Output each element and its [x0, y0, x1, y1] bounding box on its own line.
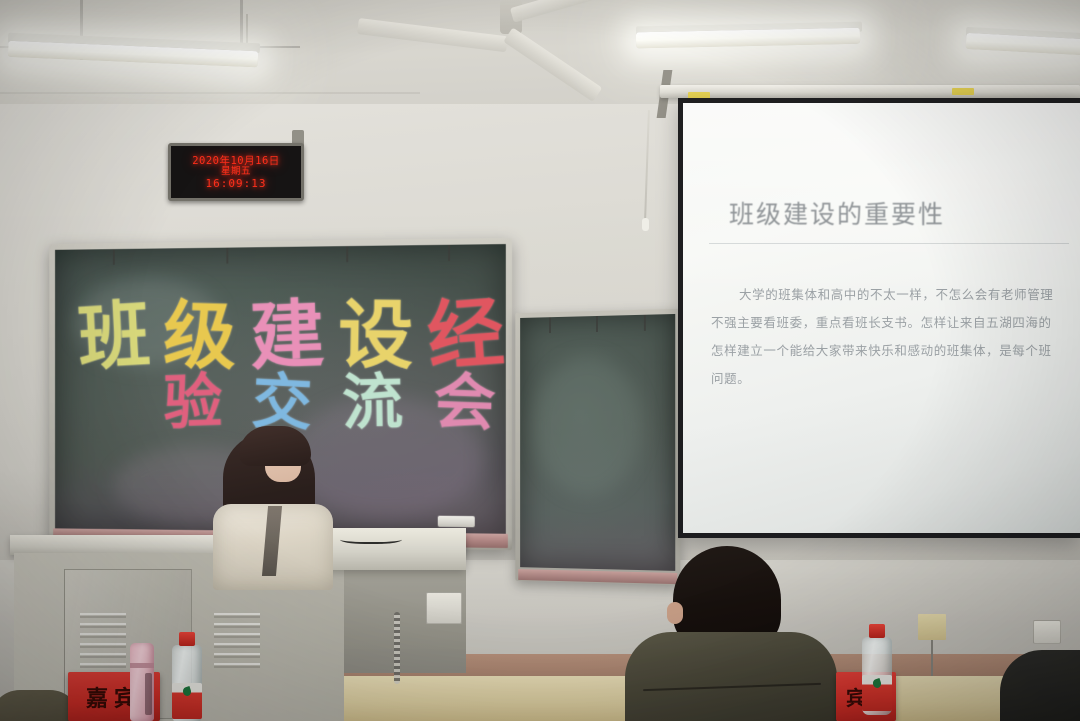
board-hook — [596, 316, 598, 332]
sign-post-head — [918, 614, 946, 640]
clock-date: 2020年10月16日 — [192, 156, 280, 167]
attendee-ear — [667, 602, 683, 624]
cabinet-vent — [214, 663, 260, 665]
presenter — [213, 418, 333, 568]
slide-body-line: 不强主要看班委，重点看班长支书。怎样让来自五湖四海的 — [711, 309, 1080, 337]
water-bottle — [172, 645, 202, 721]
rail-sticker — [952, 88, 974, 95]
board-hook — [346, 246, 348, 262]
water-bottle — [862, 637, 892, 715]
presenter-hair-top — [239, 426, 311, 466]
thermos-bottle — [130, 643, 154, 721]
cabinet-vent — [80, 653, 126, 655]
slide-body: 大学的班集体和高中的不太一样，不怎么会有老师管理 不强主要看班委，重点看班长支书… — [711, 281, 1080, 394]
attendee-right-edge — [1000, 650, 1080, 721]
cabinet-vent — [80, 623, 126, 625]
board-hook — [448, 245, 450, 261]
pull-cord-knob[interactable] — [642, 218, 649, 231]
ceiling-seam — [0, 92, 420, 94]
coiled-cable — [394, 612, 400, 684]
thermos-shadow — [145, 673, 152, 715]
board-hook — [549, 317, 551, 333]
slide-body-line: 怎样建立一个能给大家带来快乐和感动的班集体，是每个班 — [711, 337, 1080, 365]
light-switch-plate[interactable] — [1033, 620, 1061, 644]
cabinet-vent — [80, 633, 126, 635]
clock-weekday: 星期五 — [221, 167, 251, 177]
wall-socket[interactable] — [426, 592, 462, 624]
board-hook — [113, 249, 115, 265]
chalk-char: 级 — [162, 299, 237, 375]
chalk-char: 班 — [76, 298, 151, 375]
board-hook — [644, 315, 646, 331]
slide-title: 班级建设的重要性 — [729, 195, 945, 231]
chalk-title-line-1: 班 级 建 设 经 — [78, 297, 504, 373]
chalk-char: 流 — [342, 372, 404, 434]
slide-body-line: 大学的班集体和高中的不太一样，不怎么会有老师管理 — [711, 281, 1080, 309]
cabinet-vent — [214, 653, 260, 655]
microphone-cable — [340, 533, 402, 544]
slide-body-line: 问题。 — [711, 365, 1080, 393]
bottle-cap — [869, 624, 885, 638]
cabinet-vent — [80, 663, 126, 665]
chalk-char: 建 — [249, 297, 325, 374]
thermos-band — [130, 663, 154, 668]
light-wire — [246, 14, 248, 44]
side-blackboard — [515, 309, 680, 586]
classroom-photo: 2020年10月16日 星期五 16:09:13 班 级 建 设 经 验 — [0, 0, 1080, 721]
chalk-smudge — [534, 355, 642, 496]
blackboard-eraser — [438, 516, 475, 528]
side-board-surface — [520, 314, 675, 571]
ceiling-seam — [240, 0, 243, 48]
chalk-char: 设 — [337, 298, 413, 374]
cabinet-vent — [80, 643, 126, 645]
clock-time: 16:09:13 — [206, 178, 267, 189]
led-clock-display: 2020年10月16日 星期五 16:09:13 — [168, 143, 304, 201]
chalk-char: 会 — [433, 372, 497, 435]
front-attendee — [625, 546, 837, 721]
screen-rail — [660, 85, 1080, 98]
cabinet-vent — [80, 613, 126, 615]
slide-title-rule — [709, 243, 1069, 244]
attendee-jacket — [625, 632, 837, 721]
bottle-cap — [179, 632, 195, 646]
projection-screen: 班级建设的重要性 大学的班集体和高中的不太一样，不怎么会有老师管理 不强主要看班… — [678, 98, 1080, 538]
cabinet-vent — [214, 643, 260, 645]
cabinet-vent — [214, 633, 260, 635]
chalk-char: 经 — [425, 295, 506, 376]
board-hook — [226, 248, 228, 264]
cabinet-vent — [214, 623, 260, 625]
cabinet-vent — [214, 613, 260, 615]
side-board-frame — [515, 309, 680, 586]
